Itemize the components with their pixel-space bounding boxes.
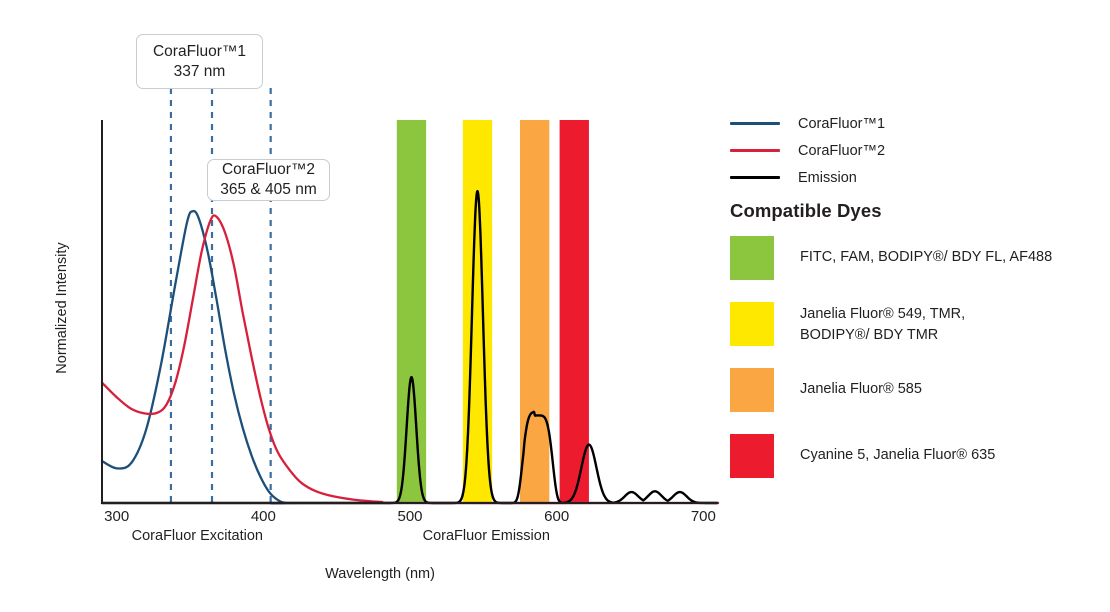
dye-color-swatch	[730, 368, 774, 412]
green-band	[397, 120, 426, 503]
callout-1-line1: CoraFluor™1	[137, 42, 262, 62]
y-axis-label: Normalized Intensity	[54, 218, 70, 398]
dye-row-3[interactable]: Janelia Fluor® 585	[730, 368, 1105, 412]
legend-line-swatch	[730, 176, 780, 178]
legend-label: CoraFluor™1	[798, 116, 885, 132]
x-tick-500: 500	[380, 508, 440, 525]
dye-label: Janelia Fluor® 549, TMR,BODIPY®/ BDY TMR	[800, 302, 965, 345]
legend-item-2[interactable]: CoraFluor™2	[730, 137, 1100, 164]
legend-line-swatch	[730, 122, 780, 124]
legend-label: CoraFluor™2	[798, 143, 885, 159]
legend-item-1[interactable]: CoraFluor™1	[730, 110, 1100, 137]
wavelength-bands	[397, 120, 589, 503]
callout-corafluor-2: CoraFluor™2 365 & 405 nm	[207, 159, 330, 201]
callout-2-line1: CoraFluor™2	[208, 160, 329, 180]
legend-label: Emission	[798, 170, 857, 186]
compatible-dyes-heading: Compatible Dyes	[730, 200, 882, 222]
x-tick-400: 400	[233, 508, 293, 525]
dye-row-1[interactable]: FITC, FAM, BODIPY®/ BDY FL, AF488	[730, 236, 1105, 280]
dye-color-swatch	[730, 236, 774, 280]
callout-corafluor-1: CoraFluor™1 337 nm	[136, 34, 263, 89]
x-tick-600: 600	[527, 508, 587, 525]
compatible-dyes-list: FITC, FAM, BODIPY®/ BDY FL, AF488Janelia…	[730, 236, 1105, 500]
chart-figure: CoraFluor™1 337 nm CoraFluor™2 365 & 405…	[0, 0, 1110, 612]
excitation-markers	[171, 88, 271, 503]
dye-label: Cyanine 5, Janelia Fluor® 635	[800, 434, 995, 466]
axis-sublabel-excitation: CoraFluor Excitation	[97, 528, 297, 544]
axis-sublabel-emission: CoraFluor Emission	[386, 528, 586, 544]
legend-line-swatch	[730, 149, 780, 151]
series-legend: CoraFluor™1CoraFluor™2Emission	[730, 110, 1100, 191]
dye-label: Janelia Fluor® 585	[800, 368, 922, 400]
x-tick-300: 300	[87, 508, 147, 525]
callout-1-line2: 337 nm	[137, 62, 262, 82]
dye-color-swatch	[730, 434, 774, 478]
dye-row-4[interactable]: Cyanine 5, Janelia Fluor® 635	[730, 434, 1105, 478]
x-tick-700: 700	[673, 508, 733, 525]
dye-color-swatch	[730, 302, 774, 346]
legend-item-3[interactable]: Emission	[730, 164, 1100, 191]
red-band	[560, 120, 589, 503]
dye-row-2[interactable]: Janelia Fluor® 549, TMR,BODIPY®/ BDY TMR	[730, 302, 1105, 346]
x-axis-label: Wavelength (nm)	[0, 566, 760, 582]
dye-label: FITC, FAM, BODIPY®/ BDY FL, AF488	[800, 236, 1052, 268]
callout-2-line2: 365 & 405 nm	[208, 180, 329, 200]
